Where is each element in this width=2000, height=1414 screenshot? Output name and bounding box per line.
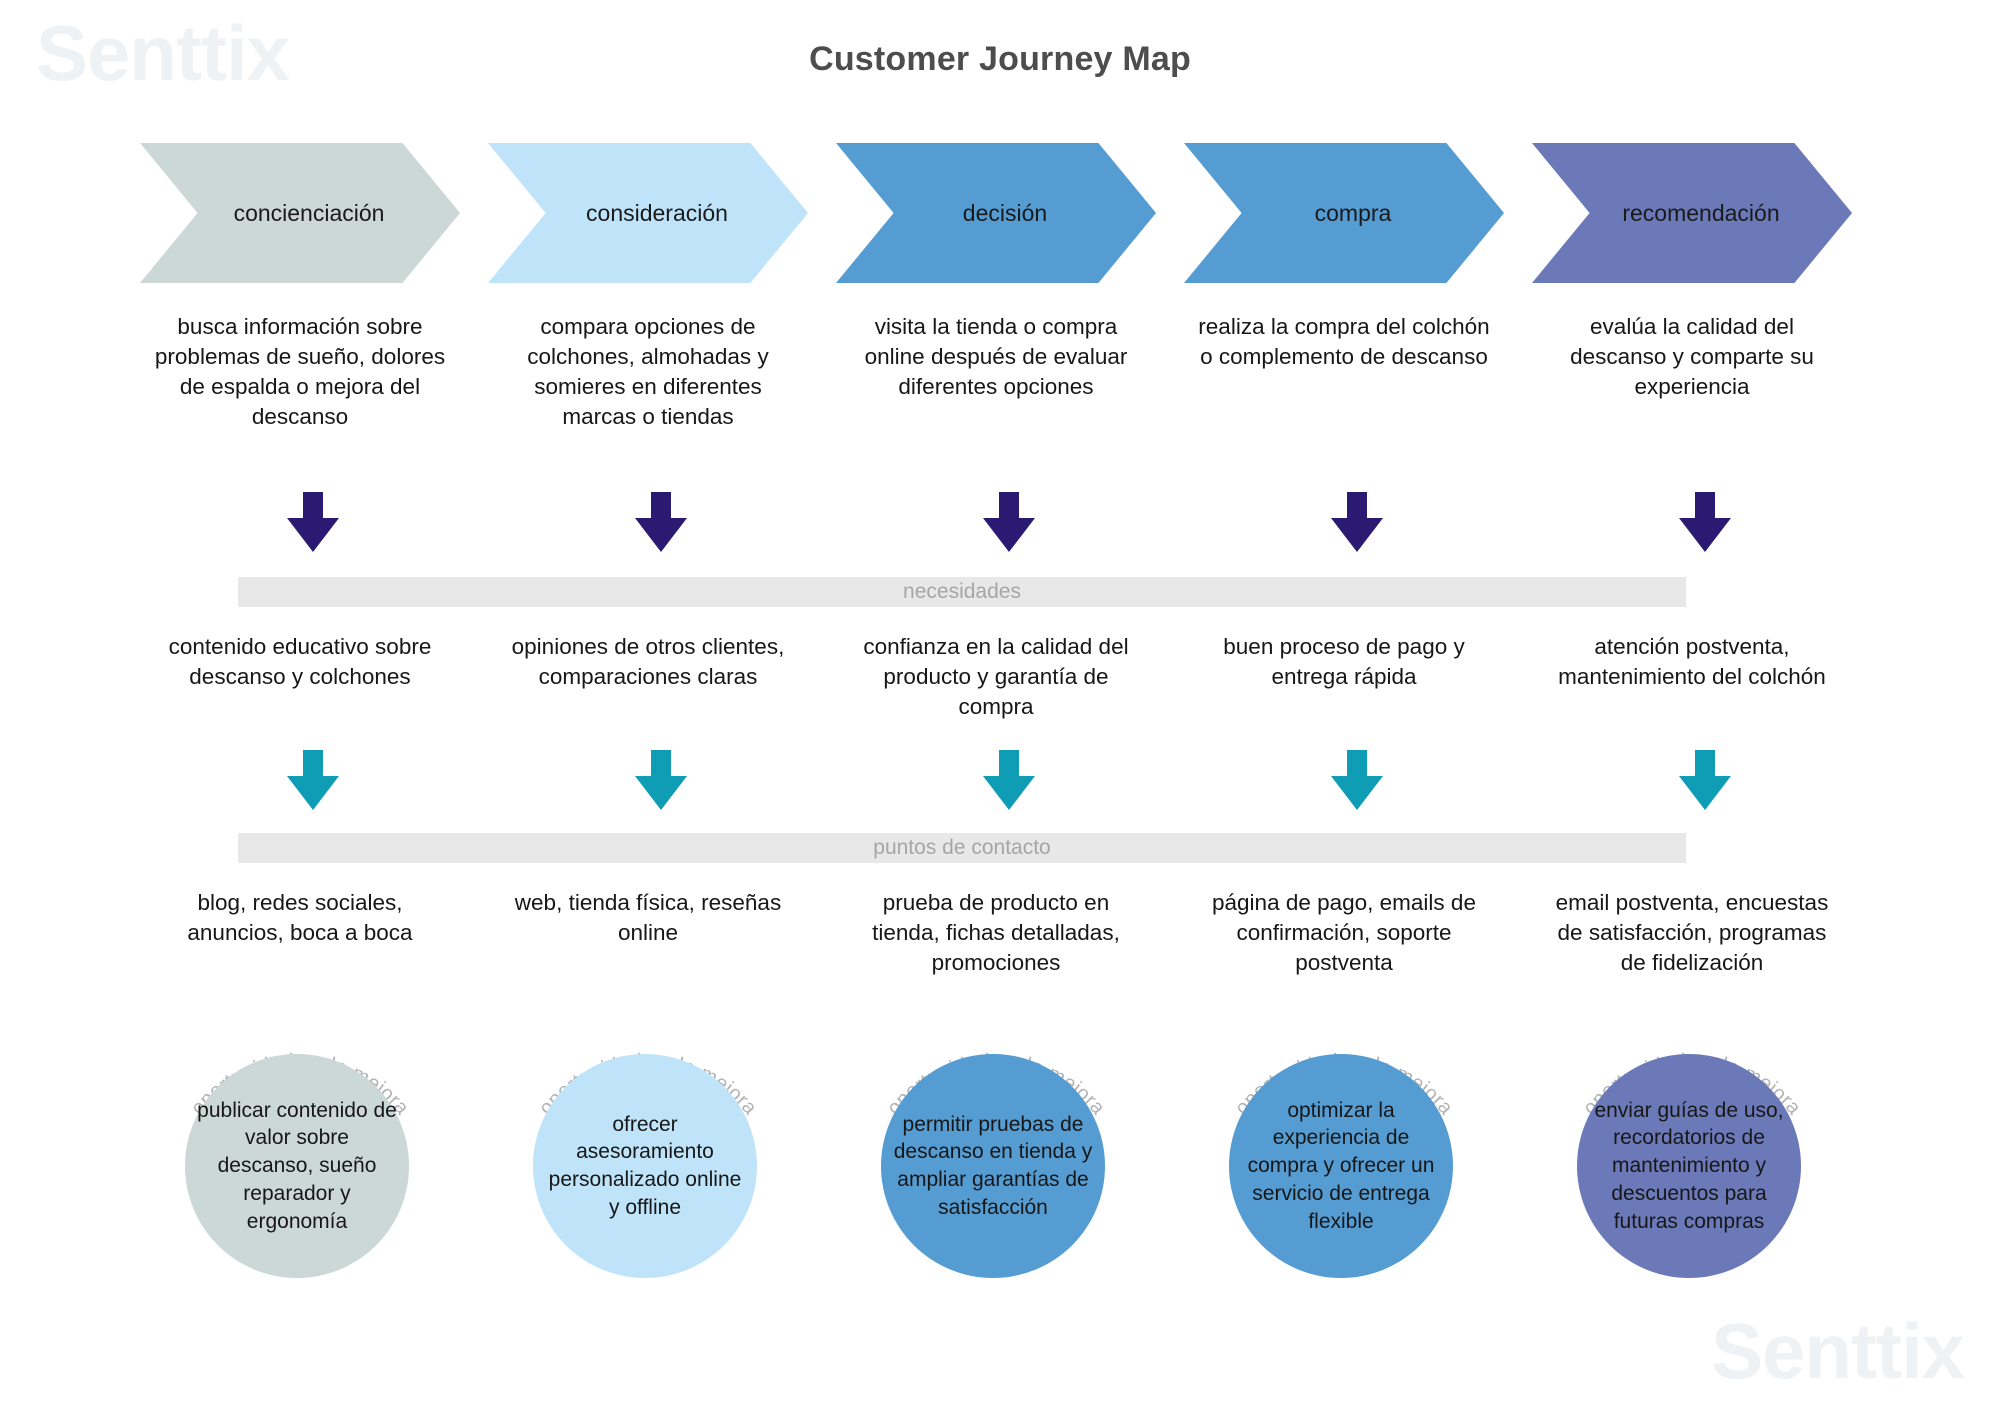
opportunity-circle[interactable]: oportunidades de mejora optimizar la exp…	[1189, 1010, 1499, 1310]
opportunity-circle-body: enviar guías de uso, recordatorios de ma…	[1577, 1054, 1801, 1278]
opportunity-circle-body: permitir pruebas de descanso en tienda y…	[881, 1054, 1105, 1278]
stage-description: busca información sobre problemas de sue…	[150, 312, 450, 433]
stage-chevron[interactable]: concienciación	[140, 143, 460, 283]
down-arrow-icon	[1327, 750, 1387, 812]
down-arrow-icon	[283, 492, 343, 554]
opportunity-circle-body: publicar contenido de valor sobre descan…	[185, 1054, 409, 1278]
opportunity-circle[interactable]: oportunidades de mejora publicar conteni…	[145, 1010, 455, 1310]
down-arrow-icon	[979, 492, 1039, 554]
stage-description: evalúa la calidad del descanso y compart…	[1542, 312, 1842, 402]
stage-label: concienciación	[234, 200, 385, 227]
stage-chevron-shape: consideración	[488, 143, 808, 283]
opportunity-text: publicar contenido de valor sobre descan…	[195, 1097, 399, 1236]
stage-column: compra realiza la compra del colchón o c…	[1194, 0, 1494, 1414]
stage-label: decisión	[963, 200, 1047, 227]
stage-label: consideración	[586, 200, 728, 227]
stage-column: recomendación evalúa la calidad del desc…	[1542, 0, 1842, 1414]
stage-chevron[interactable]: recomendación	[1532, 143, 1852, 283]
stage-description: visita la tienda o compra online después…	[846, 312, 1146, 402]
stage-chevron[interactable]: consideración	[488, 143, 808, 283]
down-arrow-icon	[631, 750, 691, 812]
opportunity-circle-body: ofrecer asesoramiento personalizado onli…	[533, 1054, 757, 1278]
stage-chevron-shape: recomendación	[1532, 143, 1852, 283]
stage-columns: concienciación busca información sobre p…	[150, 0, 1880, 1414]
stage-touchpoints: página de pago, emails de confirmación, …	[1194, 888, 1494, 978]
stage-label: compra	[1315, 200, 1392, 227]
stage-description: realiza la compra del colchón o compleme…	[1194, 312, 1494, 372]
opportunity-text: enviar guías de uso, recordatorios de ma…	[1587, 1097, 1791, 1236]
opportunity-circle[interactable]: oportunidades de mejora enviar guías de …	[1537, 1010, 1847, 1310]
stage-column: decisión visita la tienda o compra onlin…	[846, 0, 1146, 1414]
stage-needs: buen proceso de pago y entrega rápida	[1194, 632, 1494, 692]
opportunity-circle[interactable]: oportunidades de mejora permitir pruebas…	[841, 1010, 1151, 1310]
opportunity-text: permitir pruebas de descanso en tienda y…	[891, 1111, 1095, 1222]
down-arrow-icon	[1675, 750, 1735, 812]
stage-touchpoints: web, tienda física, reseñas online	[498, 888, 798, 948]
stage-chevron-shape: concienciación	[140, 143, 460, 283]
stage-column: consideración compara opciones de colcho…	[498, 0, 798, 1414]
stage-chevron-shape: decisión	[836, 143, 1156, 283]
stage-needs: opiniones de otros clientes, comparacion…	[498, 632, 798, 692]
down-arrow-icon	[631, 492, 691, 554]
stage-touchpoints: prueba de producto en tienda, fichas det…	[846, 888, 1146, 978]
opportunity-text: ofrecer asesoramiento personalizado onli…	[543, 1111, 747, 1222]
stage-touchpoints: email postventa, encuestas de satisfacci…	[1542, 888, 1842, 978]
stage-chevron[interactable]: decisión	[836, 143, 1156, 283]
opportunity-text: optimizar la experiencia de compra y ofr…	[1239, 1097, 1443, 1236]
opportunity-circle[interactable]: oportunidades de mejora ofrecer asesoram…	[493, 1010, 803, 1310]
down-arrow-icon	[1675, 492, 1735, 554]
stage-column: concienciación busca información sobre p…	[150, 0, 450, 1414]
stage-needs: contenido educativo sobre descanso y col…	[150, 632, 450, 692]
stage-chevron[interactable]: compra	[1184, 143, 1504, 283]
stage-label: recomendación	[1622, 200, 1779, 227]
down-arrow-icon	[979, 750, 1039, 812]
stage-needs: confianza en la calidad del producto y g…	[846, 632, 1146, 722]
opportunity-circle-body: optimizar la experiencia de compra y ofr…	[1229, 1054, 1453, 1278]
stage-chevron-shape: compra	[1184, 143, 1504, 283]
down-arrow-icon	[283, 750, 343, 812]
stage-needs: atención postventa, mantenimiento del co…	[1542, 632, 1842, 692]
stage-description: compara opciones de colchones, almohadas…	[498, 312, 798, 433]
down-arrow-icon	[1327, 492, 1387, 554]
stage-touchpoints: blog, redes sociales, anuncios, boca a b…	[150, 888, 450, 948]
journey-map-canvas: Senttix Senttix Customer Journey Map nec…	[0, 0, 2000, 1414]
